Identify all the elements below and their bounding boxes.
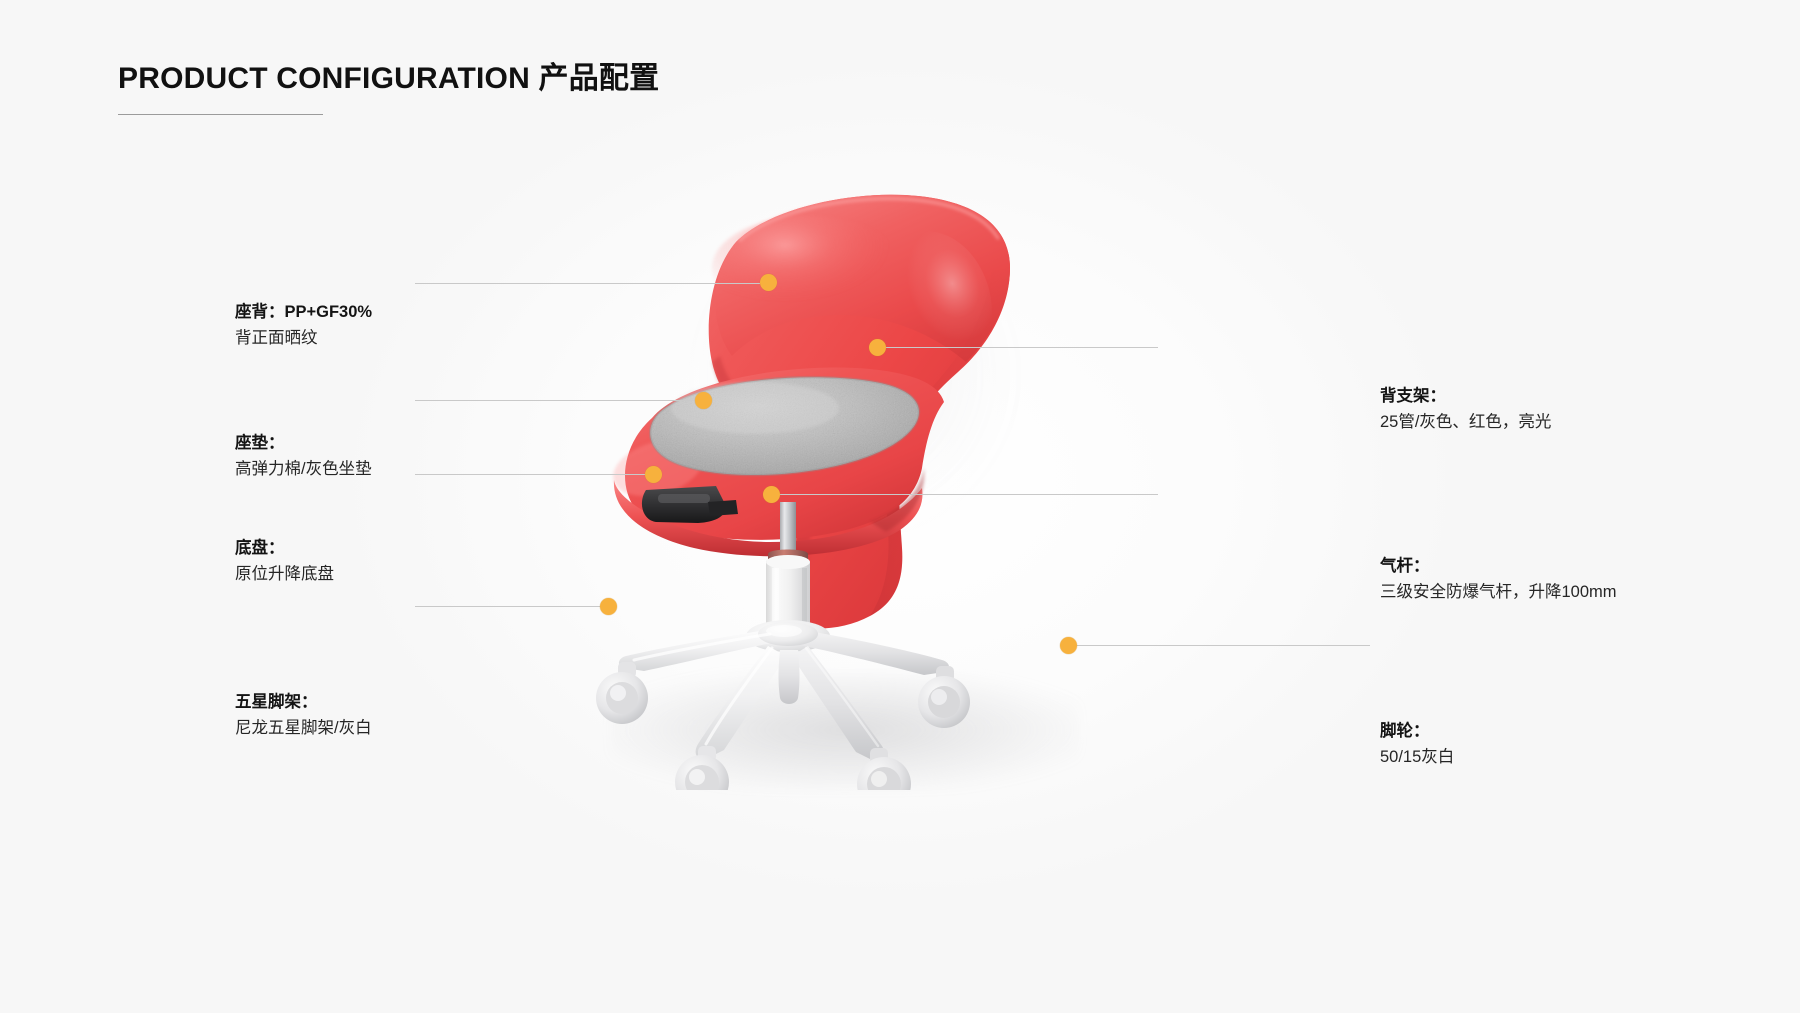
caster-front-left xyxy=(675,746,729,790)
callout-casters: 脚轮： 50/15灰白 xyxy=(1380,719,1454,770)
chair-vector-render xyxy=(540,150,1160,790)
page-title: PRODUCT CONFIGURATION 产品配置 xyxy=(118,53,659,97)
leader-line-backrest xyxy=(415,283,760,284)
callout-five-star-base-title: 五星脚架： xyxy=(235,690,372,716)
leader-line-casters xyxy=(1070,645,1370,646)
callout-back-support-title: 背支架： xyxy=(1380,384,1551,410)
base-marker xyxy=(600,598,617,615)
callout-backrest-title: 座背：PP+GF30% xyxy=(235,300,372,326)
callout-gas-lift-desc: 三级安全防爆气杆，升降100mm xyxy=(1380,580,1617,606)
callout-five-star-base: 五星脚架： 尼龙五星脚架/灰白 xyxy=(235,690,372,741)
leader-line-five-star-base xyxy=(415,606,610,607)
gas-lift-marker xyxy=(763,486,780,503)
product-image-chair xyxy=(540,150,1160,790)
title-underline-rule xyxy=(118,114,323,115)
leader-line-seat-cushion xyxy=(415,400,700,401)
callout-chassis-desc: 原位升降底盘 xyxy=(235,562,334,588)
callout-seat-cushion-desc: 高弹力棉/灰色坐垫 xyxy=(235,457,372,483)
caster-marker xyxy=(1060,637,1077,654)
callout-back-support: 背支架： 25管/灰色、红色，亮光 xyxy=(1380,384,1551,435)
callout-casters-title: 脚轮： xyxy=(1380,719,1454,745)
seat-cushion-marker xyxy=(695,392,712,409)
caster-right xyxy=(918,666,970,728)
callout-casters-desc: 50/15灰白 xyxy=(1380,745,1454,771)
leader-line-chassis xyxy=(415,474,650,475)
five-star-base xyxy=(619,620,949,761)
callout-backrest-desc: 背正面晒纹 xyxy=(235,326,372,352)
backrest-marker xyxy=(760,274,777,291)
leader-line-back-support xyxy=(880,347,1158,348)
caster-left xyxy=(596,662,648,724)
callout-backrest: 座背：PP+GF30% 背正面晒纹 xyxy=(235,300,372,351)
callout-gas-lift-title: 气杆： xyxy=(1380,554,1617,580)
callout-back-support-desc: 25管/灰色、红色，亮光 xyxy=(1380,410,1551,436)
callout-five-star-base-desc: 尼龙五星脚架/灰白 xyxy=(235,716,372,742)
callout-seat-cushion-title: 座垫： xyxy=(235,431,372,457)
product-configuration-page: PRODUCT CONFIGURATION 产品配置 xyxy=(0,0,1800,1013)
callout-seat-cushion: 座垫： 高弹力棉/灰色坐垫 xyxy=(235,431,372,482)
chassis-marker xyxy=(645,466,662,483)
callout-gas-lift: 气杆： 三级安全防爆气杆，升降100mm xyxy=(1380,554,1617,605)
back-support-marker xyxy=(869,339,886,356)
callout-chassis-title: 底盘： xyxy=(235,536,334,562)
leader-line-gas-lift xyxy=(772,494,1158,495)
callout-chassis: 底盘： 原位升降底盘 xyxy=(235,536,334,587)
